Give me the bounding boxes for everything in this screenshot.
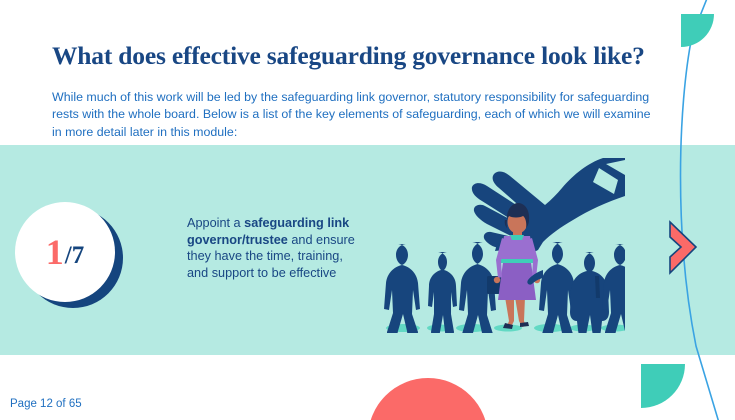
- coral-circle-decor: [368, 378, 488, 420]
- step-text-lead: Appoint a: [187, 216, 244, 230]
- badge-current-step: 1: [46, 234, 64, 270]
- page-number-label: Page 12 of 65: [10, 398, 82, 410]
- badge-total-steps: /7: [65, 243, 84, 268]
- crowd-silhouettes-right: [527, 242, 625, 333]
- step-counter-badge: 1 /7: [15, 202, 127, 310]
- quarter-circle-bottom-icon: [641, 364, 685, 408]
- badge-face-circle: 1 /7: [15, 202, 115, 302]
- hand-picking-person-illustration: [375, 158, 625, 333]
- intro-paragraph: While much of this work will be led by t…: [52, 89, 652, 141]
- giant-hand-shape: [472, 158, 625, 253]
- step-description: Appoint a safeguarding link governor/tru…: [187, 215, 367, 281]
- next-chevron-arrow-icon[interactable]: [667, 220, 699, 275]
- page-title: What does effective safeguarding governa…: [52, 41, 692, 71]
- slide-canvas: What does effective safeguarding governa…: [0, 0, 735, 420]
- crowd-silhouettes-left: [384, 242, 501, 333]
